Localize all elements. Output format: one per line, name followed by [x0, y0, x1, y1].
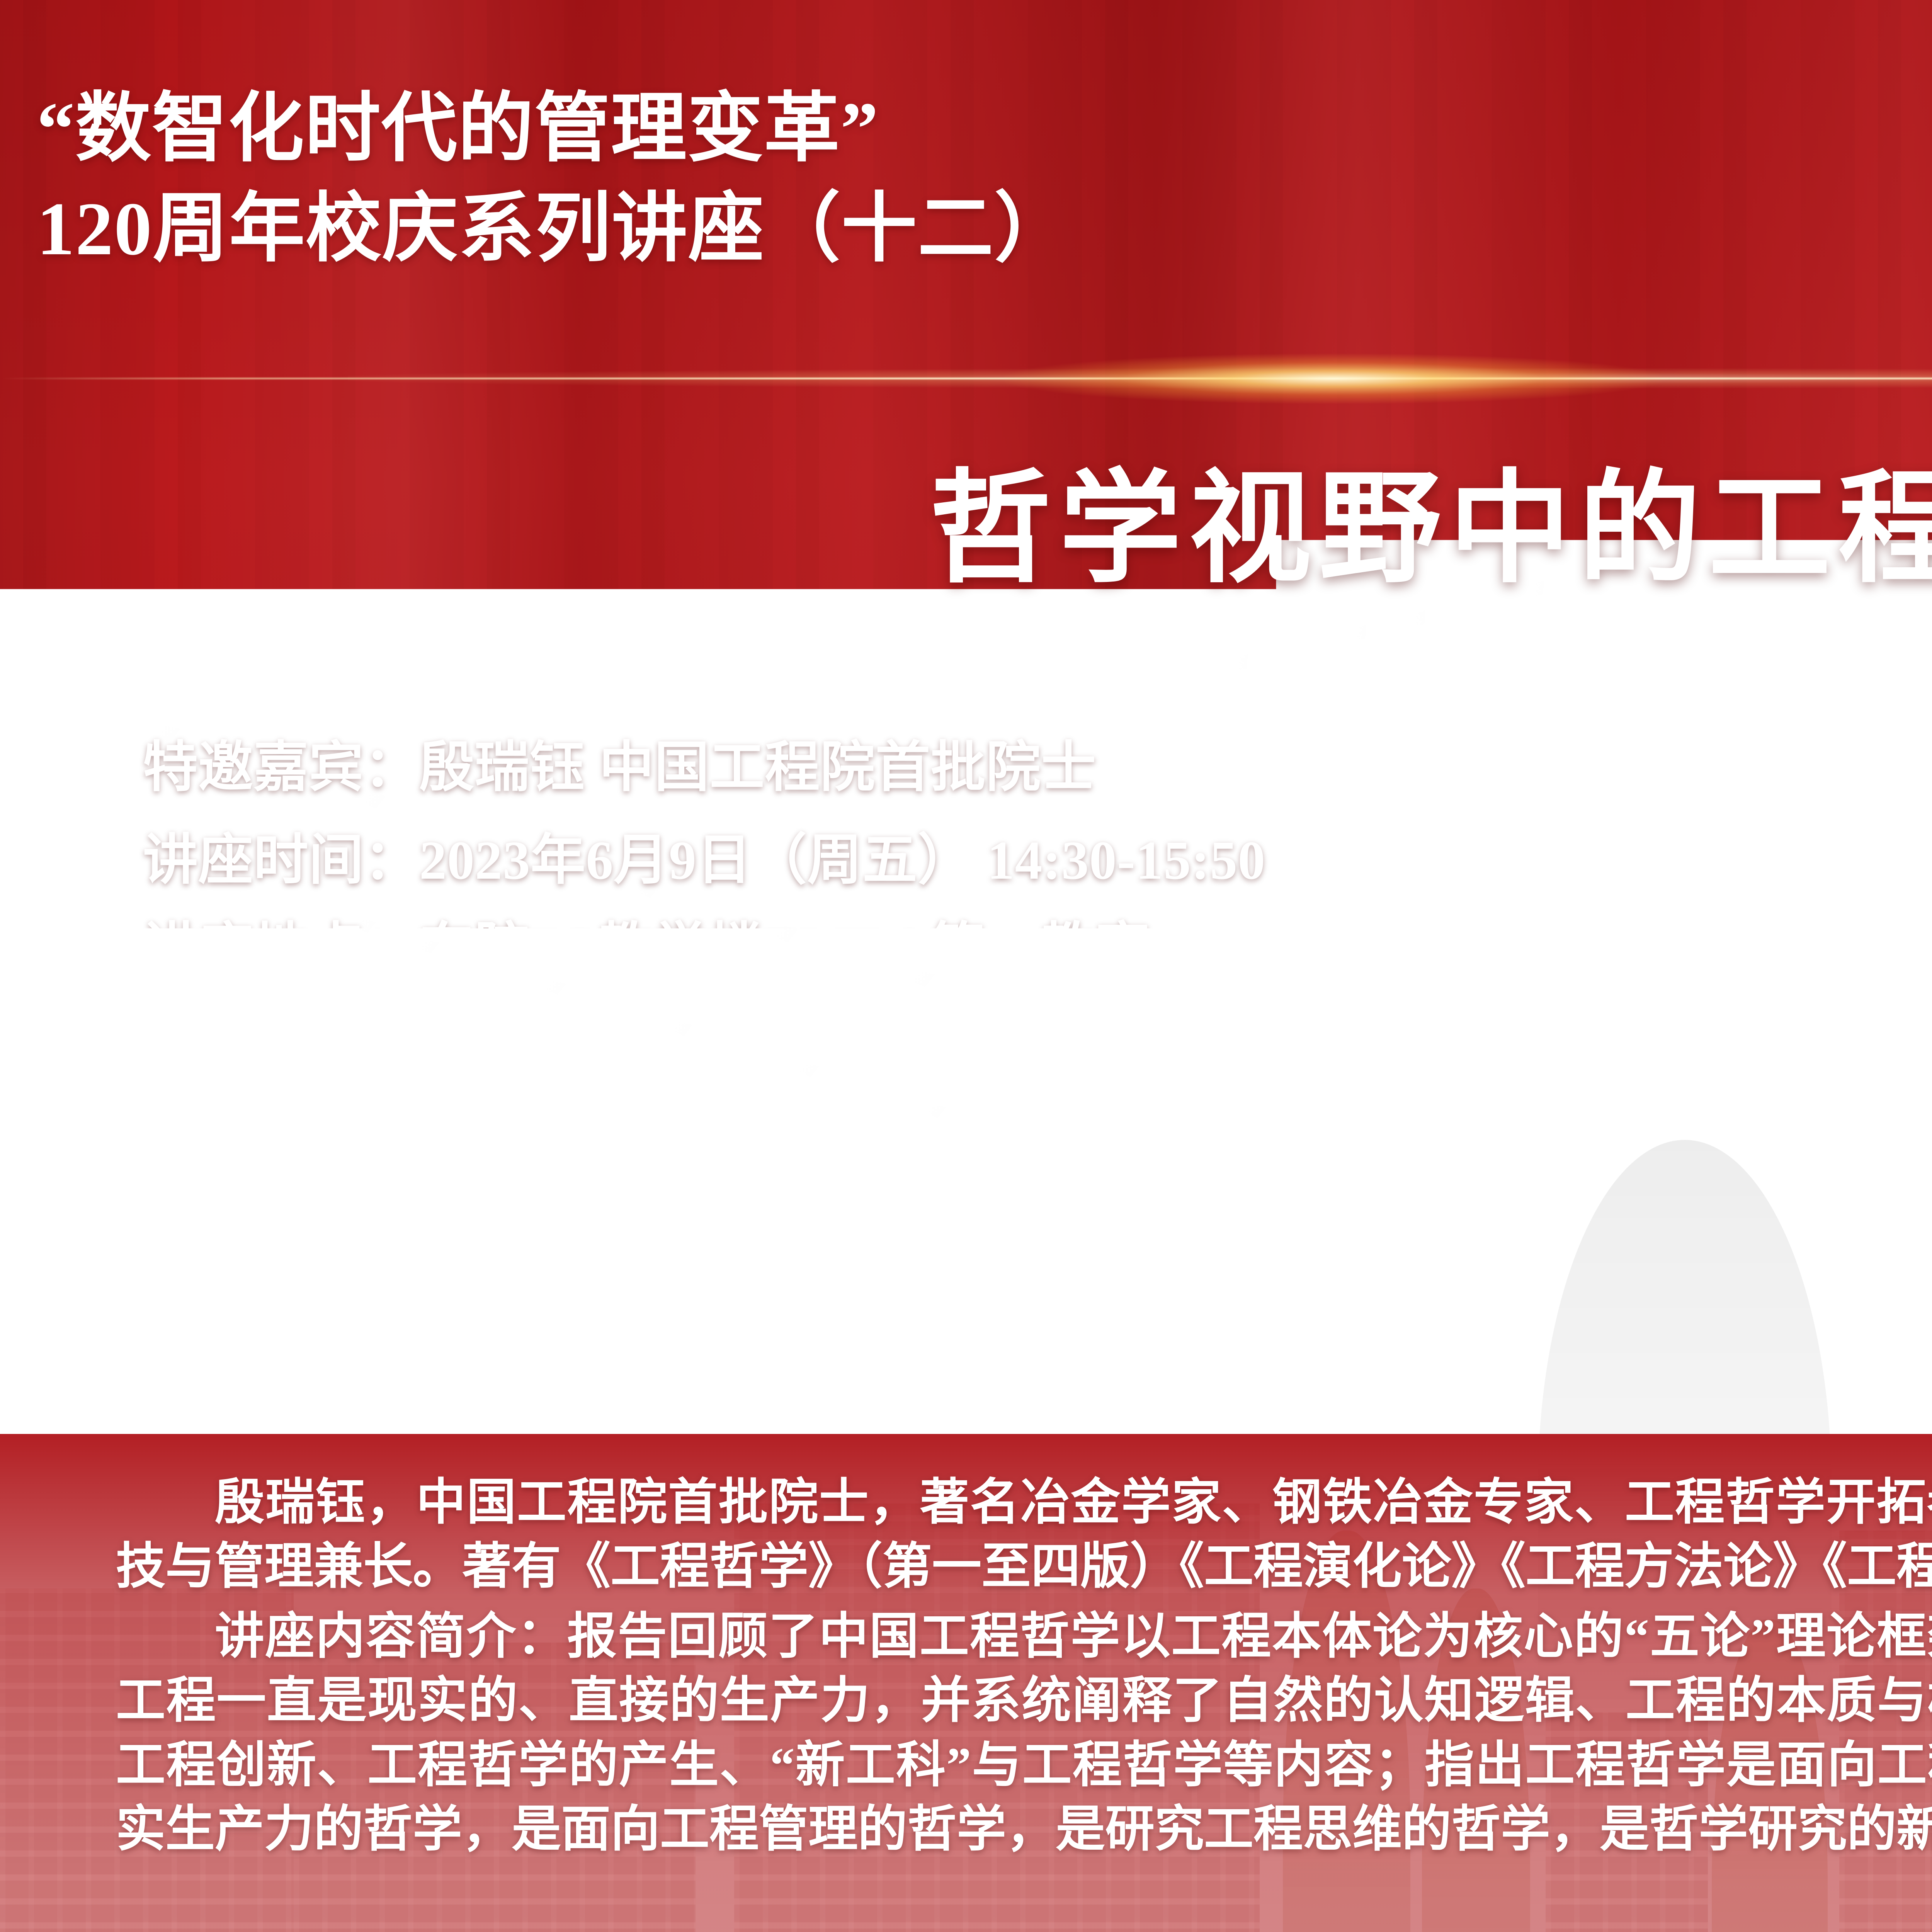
info-row-venue: 讲座地点：东院7C教学楼EMBA第一教室: [143, 921, 1920, 976]
series-title: “数智化时代的管理变革” 120周年校庆系列讲座（十二）: [37, 79, 1071, 279]
flare-line: [0, 378, 1932, 379]
lecture-info-list: 特邀嘉宾：殷瑞钰 中国工程院首批院士 讲座时间：2023年6月9日（周五） 14…: [143, 740, 1920, 1273]
paragraph-abstract: 讲座内容简介：报告回顾了中国工程哲学以工程本体论为核心的“五论”理论框架的研究进…: [116, 1604, 1932, 1862]
info-row-host: 承办单位：河北工业大学京津冀发展研究中心: [143, 1097, 1920, 1152]
info-value-organizer: 河北工业大学经济管理学院: [419, 1006, 1082, 1067]
flare-wide-glow: [348, 368, 1932, 388]
poster-root: “数智化时代的管理变革” 120周年校庆系列讲座（十二）: [0, 0, 1932, 1932]
info-label-guest: 特邀嘉宾：: [143, 737, 419, 798]
body-text-block: 殷瑞钰，中国工程院首批院士，著名冶金学家、钢铁冶金专家、工程哲学开拓者。工作生涯…: [116, 1470, 1932, 1861]
info-label-bio: 嘉宾简介：: [143, 1182, 419, 1243]
info-label-organizer: 主办单位：: [143, 1006, 419, 1067]
poster-header: “数智化时代的管理变革” 120周年校庆系列讲座（十二）: [0, 0, 1932, 371]
info-value-time: 2023年6月9日（周五） 14:30-15:50: [419, 830, 1265, 891]
info-label-time: 讲座时间：: [143, 830, 419, 891]
info-label-host: 承办单位：: [143, 1094, 419, 1155]
info-row-bio-heading: 嘉宾简介：: [143, 1185, 1920, 1240]
lecture-title: 哲学视野中的工程: [0, 462, 1932, 599]
info-row-guest: 特邀嘉宾：殷瑞钰 中国工程院首批院士: [143, 740, 1920, 795]
info-value-guest: 殷瑞钰 中国工程院首批院士: [419, 737, 1097, 798]
info-row-time: 讲座时间：2023年6月9日（周五） 14:30-15:50: [143, 833, 1920, 888]
info-label-venue: 讲座地点：: [143, 918, 419, 979]
info-value-host: 河北工业大学京津冀发展研究中心: [419, 1094, 1248, 1155]
info-row-organizer: 主办单位：河北工业大学经济管理学院: [143, 1009, 1920, 1064]
info-value-venue: 东院7C教学楼EMBA第一教室: [419, 918, 1151, 979]
paragraph-bio: 殷瑞钰，中国工程院首批院士，著名冶金学家、钢铁冶金专家、工程哲学开拓者。工作生涯…: [116, 1470, 1932, 1599]
